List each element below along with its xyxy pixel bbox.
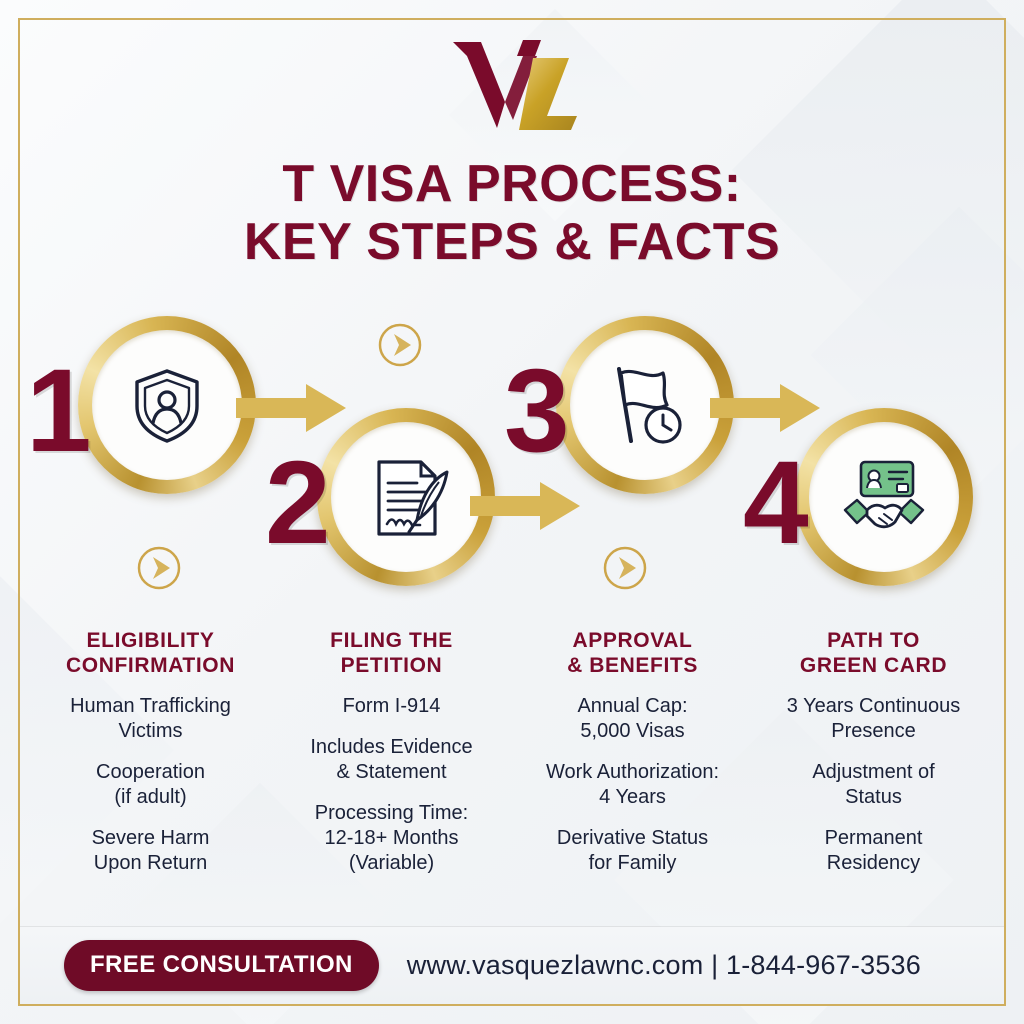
column-item: Severe HarmUpon Return (36, 826, 265, 876)
step-3[interactable]: 3 (556, 316, 734, 494)
play-marker-bottom-2 (602, 545, 648, 591)
column-heading-line-1: ELIGIBILITY (36, 628, 265, 653)
column-filing-the-petition: FILING THE PETITION Form I-914 Includes … (271, 628, 512, 908)
column-item: Form I-914 (277, 694, 506, 719)
column-item: Includes Evidence& Statement (277, 735, 506, 785)
flag-clock-icon (570, 330, 720, 480)
column-heading-line-1: PATH TO (759, 628, 988, 653)
steps-row: 1 (0, 300, 1024, 610)
column-item: Cooperation(if adult) (36, 760, 265, 810)
column-path-to-green-card: PATH TO GREEN CARD 3 Years ContinuousPre… (753, 628, 994, 908)
column-item: Processing Time:12-18+ Months(Variable) (277, 801, 506, 876)
play-marker-top-1 (377, 322, 423, 368)
column-heading: APPROVAL & BENEFITS (518, 628, 747, 678)
column-item: 3 Years ContinuousPresence (759, 694, 988, 744)
arrow-step1-to-step2 (236, 380, 348, 436)
column-heading-line-2: & BENEFITS (518, 653, 747, 678)
column-heading-line-2: GREEN CARD (759, 653, 988, 678)
title-line-2: KEY STEPS & FACTS (0, 213, 1024, 271)
play-marker-bottom-1 (136, 545, 182, 591)
column-heading: ELIGIBILITY CONFIRMATION (36, 628, 265, 678)
greencard-handshake-icon (809, 422, 959, 572)
column-item: Human TraffickingVictims (36, 694, 265, 744)
step-number: 1 (26, 356, 92, 466)
page-title: T VISA PROCESS: KEY STEPS & FACTS (0, 155, 1024, 271)
column-approval-and-benefits: APPROVAL & BENEFITS Annual Cap:5,000 Vis… (512, 628, 753, 908)
column-item: PermanentResidency (759, 826, 988, 876)
contact-info[interactable]: www.vasquezlawnc.com | 1-844-967-3536 (407, 950, 921, 981)
column-item: Adjustment ofStatus (759, 760, 988, 810)
column-heading-line-2: CONFIRMATION (36, 653, 265, 678)
brand-logo (0, 34, 1024, 134)
shield-person-icon (92, 330, 242, 480)
column-heading: FILING THE PETITION (277, 628, 506, 678)
column-heading-line-2: PETITION (277, 653, 506, 678)
column-item: Annual Cap:5,000 Visas (518, 694, 747, 744)
step-number: 2 (265, 448, 331, 558)
step-number: 3 (504, 356, 570, 466)
footer-bar: FREE CONSULTATION www.vasquezlawnc.com |… (20, 927, 1004, 1004)
column-item: Derivative Statusfor Family (518, 826, 747, 876)
detail-columns: ELIGIBILITY CONFIRMATION Human Trafficki… (30, 628, 994, 908)
column-heading-line-1: FILING THE (277, 628, 506, 653)
infographic-canvas: T VISA PROCESS: KEY STEPS & FACTS (0, 0, 1024, 1024)
arrow-step2-to-step3 (470, 478, 582, 534)
column-heading-line-1: APPROVAL (518, 628, 747, 653)
column-heading: PATH TO GREEN CARD (759, 628, 988, 678)
step-number: 4 (743, 448, 809, 558)
step-1[interactable]: 1 (78, 316, 256, 494)
column-item: Work Authorization:4 Years (518, 760, 747, 810)
title-line-1: T VISA PROCESS: (0, 155, 1024, 213)
document-quill-icon (331, 422, 481, 572)
column-eligibility-confirmation: ELIGIBILITY CONFIRMATION Human Trafficki… (30, 628, 271, 908)
arrow-step3-to-step4 (710, 380, 822, 436)
free-consultation-button[interactable]: FREE CONSULTATION (64, 940, 379, 991)
